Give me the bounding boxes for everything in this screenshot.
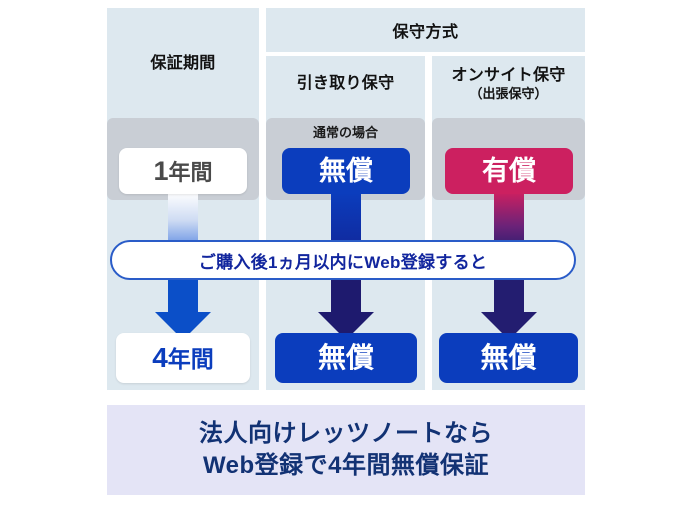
normal-pickup-cost-value: 無償 [319, 158, 373, 185]
header-onsite-maintenance: オンサイト保守 （出張保守） [432, 56, 585, 112]
header-pickup-maintenance: 引き取り保守 [266, 56, 425, 112]
normal-warranty-period-value: 1年間 [153, 158, 212, 185]
column-divider-1 [259, 8, 266, 390]
registered-warranty-period-box: 4年間 [116, 333, 250, 383]
header-maintenance-method-label: 保守方式 [392, 18, 458, 42]
registered-onsite-cost-box: 無償 [439, 333, 578, 383]
web-registration-banner: ご購入後1ヵ月以内にWeb登録すると [110, 240, 576, 280]
header-maintenance-method: 保守方式 [266, 8, 585, 52]
normal-case-label: 通常の場合 [266, 122, 425, 141]
warranty-comparison-diagram: 保守方式 保証期間 引き取り保守 オンサイト保守 （出張保守） 通常の場合 1年… [0, 0, 690, 518]
header-onsite-maintenance-label-line1: オンサイト保守 [451, 66, 565, 86]
normal-onsite-cost-box: 有償 [445, 148, 573, 194]
header-warranty-period: 保証期間 [107, 16, 259, 112]
normal-warranty-period-box: 1年間 [119, 148, 247, 194]
header-pickup-maintenance-label: 引き取り保守 [297, 74, 395, 94]
header-onsite-maintenance-label-line2: （出張保守） [469, 86, 547, 102]
normal-pickup-cost-box: 無償 [282, 148, 410, 194]
header-warranty-period-label: 保証期間 [150, 54, 215, 74]
registered-warranty-period-value: 4年間 [152, 344, 214, 372]
registered-pickup-cost-value: 無償 [318, 344, 374, 372]
comparison-table: 保守方式 保証期間 引き取り保守 オンサイト保守 （出張保守） 通常の場合 1年… [107, 8, 585, 390]
web-registration-banner-text: ご購入後1ヵ月以内にWeb登録すると [199, 248, 487, 273]
registered-onsite-cost-value: 無償 [480, 344, 536, 372]
summary-caption: 法人向けレッツノートなら Web登録で4年間無償保証 [107, 405, 585, 495]
column-divider-2 [425, 56, 432, 390]
registered-pickup-cost-box: 無償 [275, 333, 417, 383]
summary-caption-line2: Web登録で4年間無償保証 [203, 450, 489, 482]
summary-caption-line1: 法人向けレッツノートなら [199, 418, 493, 450]
normal-onsite-cost-value: 有償 [482, 158, 536, 185]
